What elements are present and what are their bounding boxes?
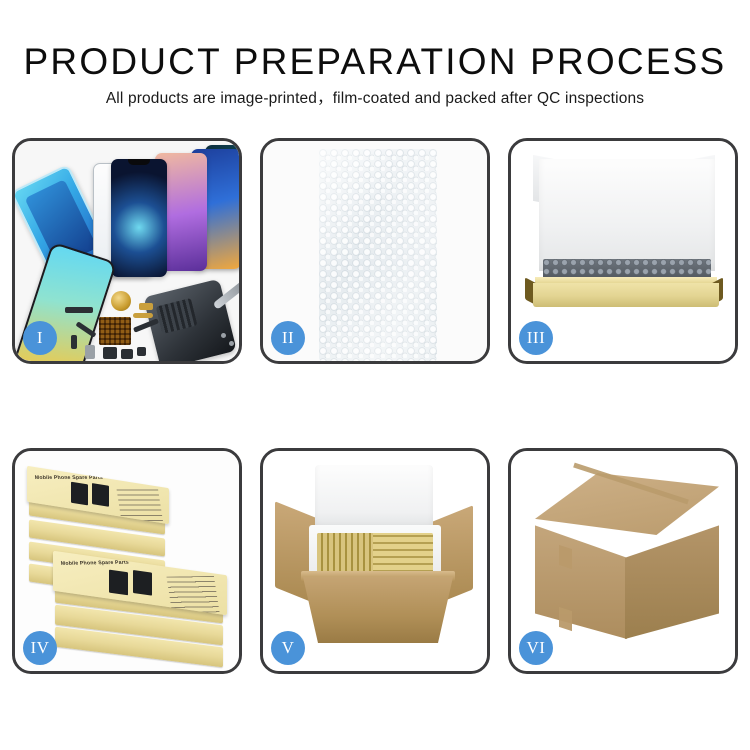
step-number-badge: I bbox=[23, 321, 57, 355]
vibration-motor-icon bbox=[111, 291, 131, 311]
page-title: PRODUCT PREPARATION PROCESS bbox=[0, 40, 750, 84]
carton-body-icon bbox=[303, 577, 453, 643]
foam-lid-icon bbox=[315, 465, 433, 531]
phone-dark-icon bbox=[111, 159, 167, 277]
connector-chip-icon bbox=[65, 307, 93, 313]
step-panel-border: V bbox=[260, 448, 490, 674]
step-panel-border: III bbox=[508, 138, 738, 364]
carton-tape-icon bbox=[559, 607, 572, 631]
screw-icon bbox=[229, 341, 234, 346]
camera-module-icon bbox=[103, 347, 117, 359]
kraft-box-front-icon bbox=[533, 283, 719, 307]
process-step-3: III bbox=[508, 138, 738, 364]
phone-photo-icon bbox=[109, 570, 128, 596]
carton-tape-icon bbox=[559, 545, 572, 569]
process-step-6: VI bbox=[508, 448, 738, 674]
carton-face-left-icon bbox=[535, 523, 627, 639]
step-number-badge: III bbox=[519, 321, 553, 355]
step-panel-border: Mobile Phone Spare Parts Mobile Phone Sp… bbox=[12, 448, 242, 674]
step-number-badge: IV bbox=[23, 631, 57, 665]
step-number-badge: II bbox=[271, 321, 305, 355]
step-panel-border: VI bbox=[508, 448, 738, 674]
box-label-text: Mobile Phone Spare Parts bbox=[61, 559, 130, 566]
sim-tray-icon bbox=[85, 345, 95, 359]
foam-lid-icon bbox=[539, 159, 715, 271]
speaker-module-icon bbox=[121, 349, 133, 359]
step-panel-border: II bbox=[260, 138, 490, 364]
phone-photo-icon bbox=[71, 482, 88, 506]
gold-contact-icon bbox=[139, 303, 153, 310]
process-step-4: Mobile Phone Spare Parts Mobile Phone Sp… bbox=[12, 448, 242, 674]
box-stack: Mobile Phone Spare Parts Mobile Phone Sp… bbox=[25, 467, 233, 657]
page-subtitle: All products are image-printed，film-coat… bbox=[0, 88, 750, 110]
speaker-mesh-icon bbox=[99, 317, 131, 345]
process-step-5: V bbox=[260, 448, 490, 674]
process-step-1: I bbox=[12, 138, 242, 364]
step-number-badge: V bbox=[271, 631, 305, 665]
carton-face-right-icon bbox=[625, 523, 719, 639]
phone-photo-icon bbox=[92, 483, 109, 507]
step-number-badge: VI bbox=[519, 631, 553, 665]
box-spec-lines-icon bbox=[166, 575, 219, 612]
box-label-text: Mobile Phone Spare Parts bbox=[35, 475, 104, 481]
screw-icon bbox=[221, 333, 226, 338]
ic-chip-icon bbox=[137, 347, 146, 356]
step-panel-border: I bbox=[12, 138, 242, 364]
process-step-2: II bbox=[260, 138, 490, 364]
flex-cable-leg-icon bbox=[71, 335, 77, 349]
product-preparation-infographic: PRODUCT PREPARATION PROCESS All products… bbox=[0, 0, 750, 750]
flex-cable-gold-icon bbox=[133, 313, 153, 318]
phone-photo-icon bbox=[133, 570, 152, 596]
process-step-grid: I II bbox=[12, 138, 738, 678]
plastic-sheen-icon bbox=[319, 149, 437, 361]
